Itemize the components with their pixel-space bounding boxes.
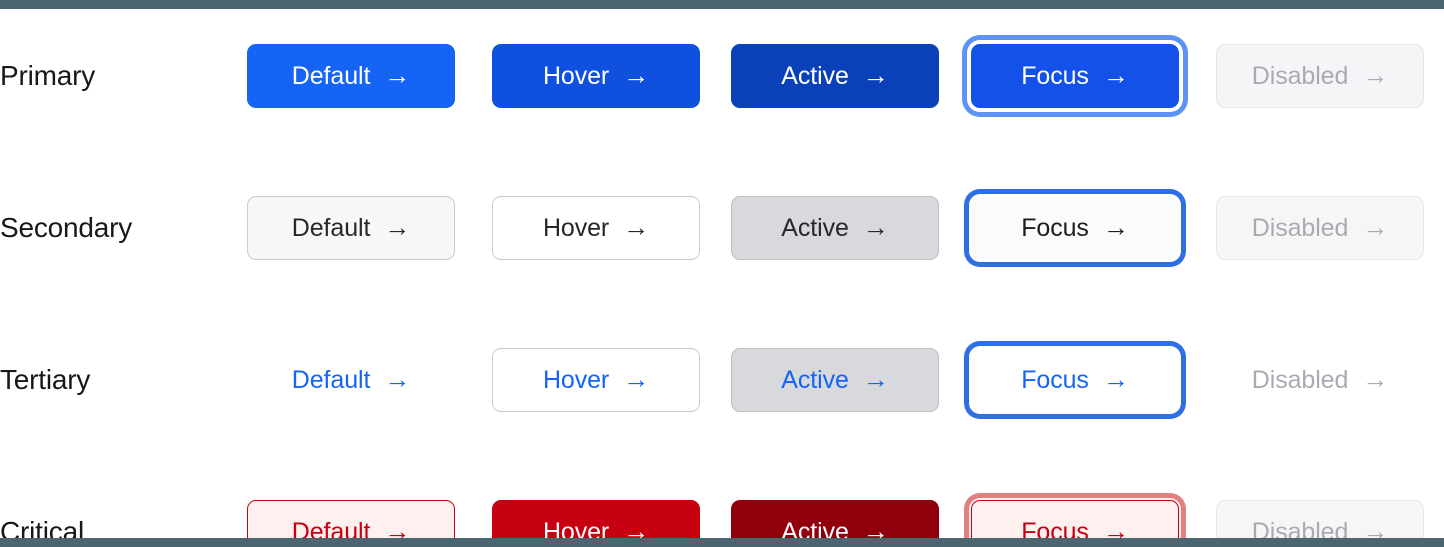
arrow-right-icon: →: [1362, 62, 1388, 88]
button-tertiary-disabled: Disabled →: [1216, 348, 1424, 412]
cell-secondary-default: Default →: [247, 196, 455, 260]
row-secondary: Secondary Default → Hover → Active →: [0, 152, 1444, 304]
arrow-right-icon: →: [1103, 62, 1129, 88]
arrow-right-icon: →: [1362, 366, 1388, 392]
button-label: Default: [292, 368, 371, 393]
bottom-edge-bar: [0, 538, 1444, 547]
cell-primary-active: Active →: [731, 44, 939, 108]
cell-primary-focus: Focus →: [971, 44, 1179, 108]
button-label: Disabled: [1252, 216, 1348, 241]
button-primary-disabled: Disabled →: [1216, 44, 1424, 108]
button-tertiary-focus[interactable]: Focus →: [971, 348, 1179, 412]
arrow-right-icon: →: [1103, 366, 1129, 392]
arrow-right-icon: →: [1362, 214, 1388, 240]
button-secondary-focus[interactable]: Focus →: [971, 196, 1179, 260]
cell-secondary-focus: Focus →: [971, 196, 1179, 260]
arrow-right-icon: →: [863, 62, 889, 88]
cell-primary-default: Default →: [247, 44, 455, 108]
arrow-right-icon: →: [623, 214, 649, 240]
button-variant-matrix: Primary Default → Hover → Active →: [0, 9, 1444, 538]
arrow-right-icon: →: [384, 366, 410, 392]
button-label: Hover: [543, 216, 609, 241]
cell-primary-hover: Hover →: [492, 44, 700, 108]
row-tertiary: Tertiary Default → Hover → Active →: [0, 304, 1444, 456]
cell-tertiary-active: Active →: [731, 348, 939, 412]
cell-secondary-active: Active →: [731, 196, 939, 260]
button-primary-default[interactable]: Default →: [247, 44, 455, 108]
row-label-primary: Primary: [0, 62, 95, 90]
button-secondary-hover[interactable]: Hover →: [492, 196, 700, 260]
button-secondary-disabled: Disabled →: [1216, 196, 1424, 260]
button-label: Active: [781, 368, 848, 393]
button-label: Hover: [543, 64, 609, 89]
cell-tertiary-focus: Focus →: [971, 348, 1179, 412]
button-primary-hover[interactable]: Hover →: [492, 44, 700, 108]
row-primary: Primary Default → Hover → Active →: [0, 0, 1444, 152]
button-tertiary-default[interactable]: Default →: [247, 348, 455, 412]
button-tertiary-hover[interactable]: Hover →: [492, 348, 700, 412]
button-label: Focus: [1021, 64, 1089, 89]
button-tertiary-active[interactable]: Active →: [731, 348, 939, 412]
row-label-tertiary: Tertiary: [0, 366, 90, 394]
arrow-right-icon: →: [863, 214, 889, 240]
button-primary-active[interactable]: Active →: [731, 44, 939, 108]
button-label: Default: [292, 64, 371, 89]
cell-tertiary-default: Default →: [247, 348, 455, 412]
row-critical: Critical Default → Hover → Active →: [0, 456, 1444, 547]
button-secondary-active[interactable]: Active →: [731, 196, 939, 260]
arrow-right-icon: →: [384, 62, 410, 88]
button-label: Focus: [1021, 216, 1089, 241]
button-state-matrix-page: Primary Default → Hover → Active →: [0, 0, 1444, 547]
button-label: Focus: [1021, 368, 1089, 393]
button-label: Hover: [543, 368, 609, 393]
cell-secondary-hover: Hover →: [492, 196, 700, 260]
button-secondary-default[interactable]: Default →: [247, 196, 455, 260]
button-label: Default: [292, 216, 371, 241]
cell-tertiary-disabled: Disabled →: [1216, 348, 1424, 412]
row-label-secondary: Secondary: [0, 214, 132, 242]
arrow-right-icon: →: [1103, 214, 1129, 240]
arrow-right-icon: →: [863, 366, 889, 392]
button-label: Active: [781, 216, 848, 241]
arrow-right-icon: →: [623, 62, 649, 88]
button-label: Active: [781, 64, 848, 89]
cell-tertiary-hover: Hover →: [492, 348, 700, 412]
button-label: Disabled: [1252, 64, 1348, 89]
cell-secondary-disabled: Disabled →: [1216, 196, 1424, 260]
arrow-right-icon: →: [623, 366, 649, 392]
arrow-right-icon: →: [384, 214, 410, 240]
cell-primary-disabled: Disabled →: [1216, 44, 1424, 108]
button-label: Disabled: [1252, 368, 1348, 393]
button-primary-focus[interactable]: Focus →: [971, 44, 1179, 108]
